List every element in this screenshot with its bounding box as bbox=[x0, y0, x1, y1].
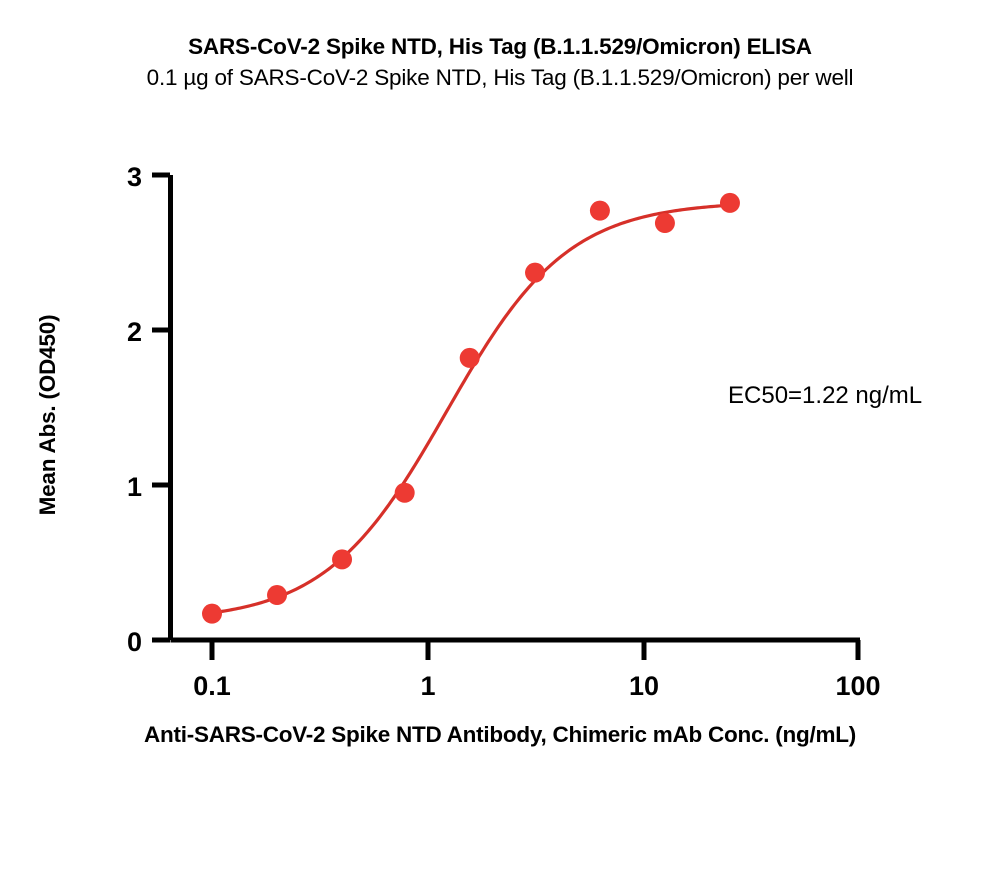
data-point bbox=[395, 483, 415, 503]
x-tick-label-100: 100 bbox=[835, 671, 880, 701]
x-axis-title: Anti-SARS-CoV-2 Spike NTD Antibody, Chim… bbox=[0, 722, 1000, 748]
data-point bbox=[655, 213, 675, 233]
fit-curve bbox=[212, 205, 730, 613]
elisa-figure: SARS-CoV-2 Spike NTD, His Tag (B.1.1.529… bbox=[0, 0, 1000, 872]
y-tick-label-0: 0 bbox=[127, 627, 142, 657]
x-tick-label-10: 10 bbox=[629, 671, 659, 701]
data-point bbox=[590, 201, 610, 221]
y-tick-label-2: 2 bbox=[127, 317, 142, 347]
data-points-group bbox=[202, 193, 740, 624]
y-tick-label-1: 1 bbox=[127, 472, 142, 502]
data-point bbox=[332, 549, 352, 569]
ec50-annotation: EC50=1.22 ng/mL bbox=[728, 382, 922, 410]
data-point bbox=[460, 348, 480, 368]
data-point bbox=[720, 193, 740, 213]
data-point bbox=[202, 604, 222, 624]
data-point bbox=[525, 263, 545, 283]
data-point bbox=[267, 585, 287, 605]
y-tick-label-3: 3 bbox=[127, 162, 142, 192]
y-axis-title: Mean Abs. (OD450) bbox=[35, 255, 61, 575]
x-tick-label-0.1: 0.1 bbox=[193, 671, 231, 701]
x-tick-label-1: 1 bbox=[420, 671, 435, 701]
